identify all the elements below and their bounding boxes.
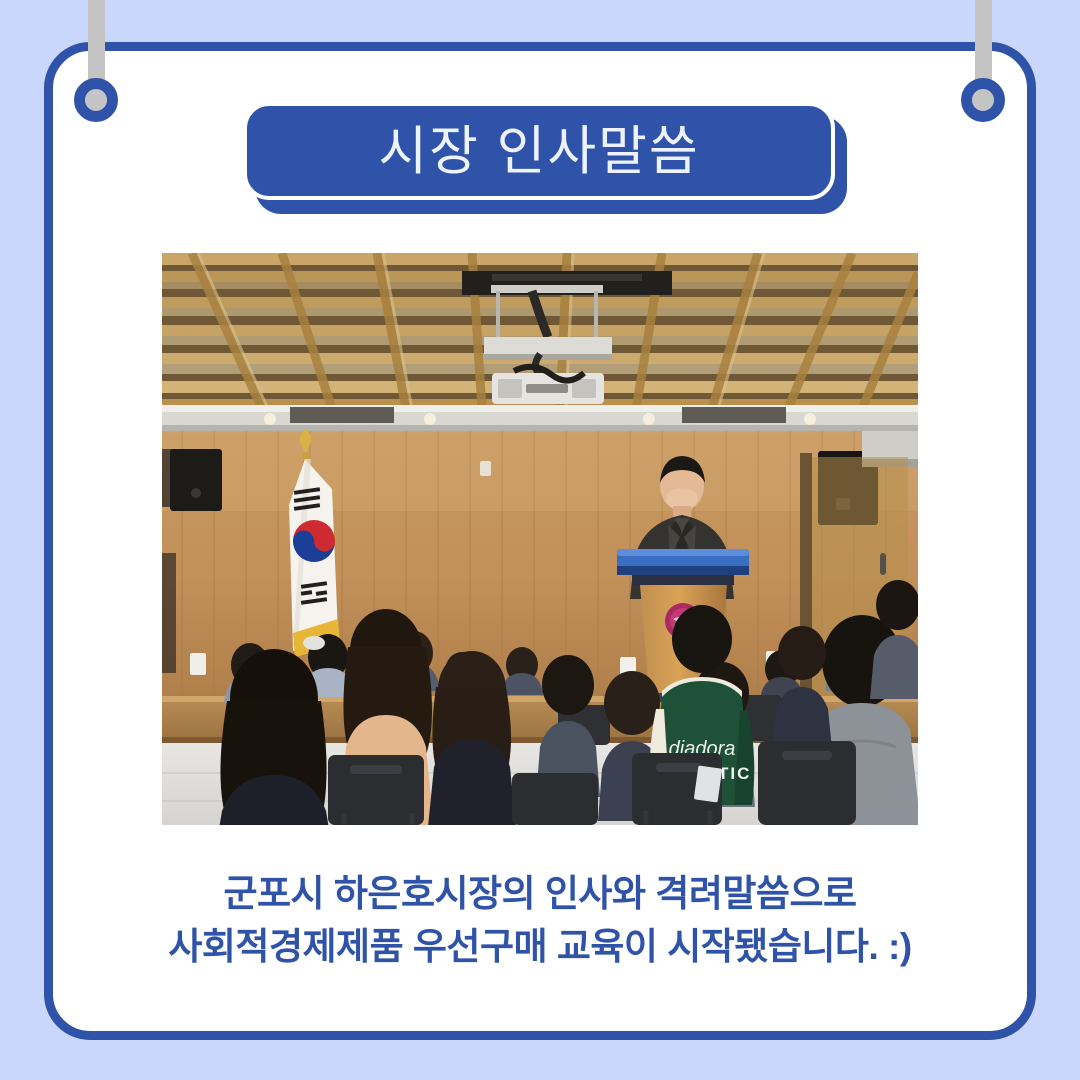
page-title: 시장 인사말씀 — [378, 125, 699, 178]
binder-ring-left-icon — [74, 78, 118, 122]
caption-line-1: 군포시 하은호시장의 인사와 격려말씀으로 — [90, 868, 990, 921]
event-photo: diadora ATHLETIC — [162, 253, 918, 825]
caption: 군포시 하은호시장의 인사와 격려말씀으로 사회적경제제품 우선구매 교육이 시… — [90, 868, 990, 973]
title-badge: 시장 인사말씀 — [243, 102, 843, 217]
title-badge-front-layer: 시장 인사말씀 — [243, 102, 835, 200]
caption-line-2: 사회적경제제품 우선구매 교육이 시작됐습니다. :) — [90, 921, 990, 974]
binder-ring-right-icon — [961, 78, 1005, 122]
card-page: 시장 인사말씀 — [0, 0, 1080, 1080]
event-photo-illustration: diadora ATHLETIC — [162, 253, 918, 825]
